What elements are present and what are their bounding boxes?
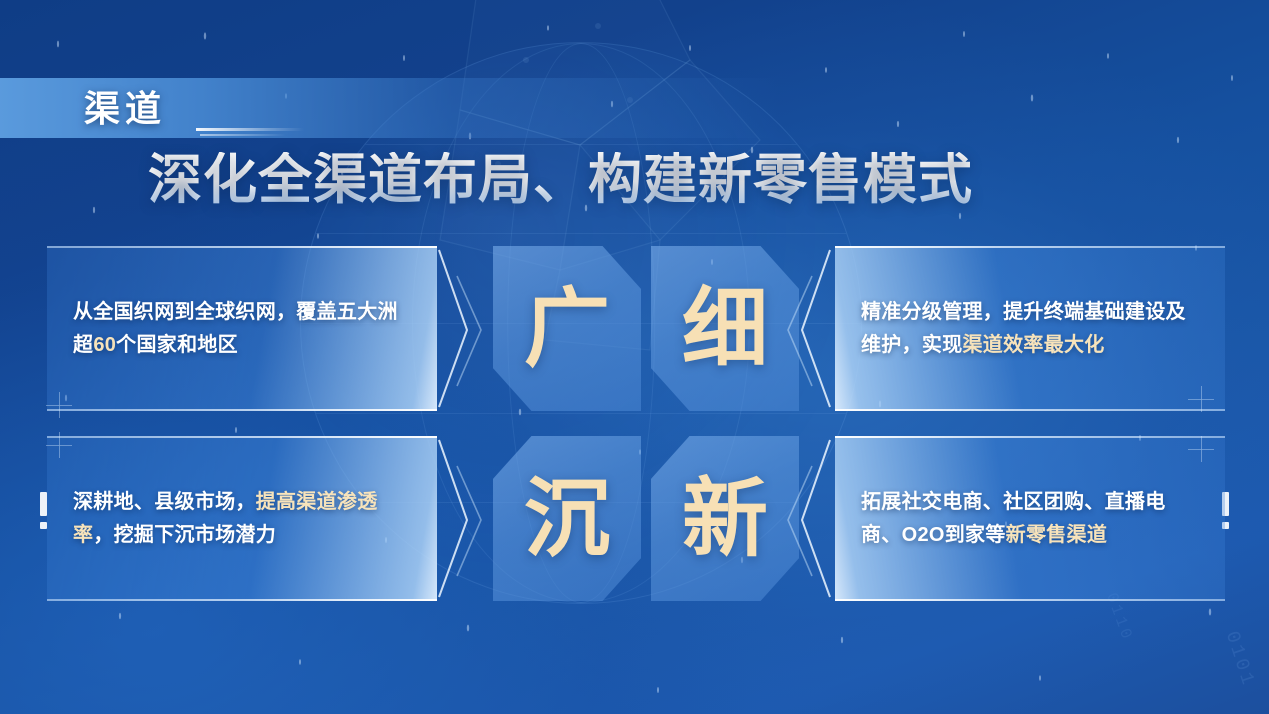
slide-canvas: 0101 0110 渠道 深化全渠道布局、构建新零售模式 从全国织网到全球织网，… [0,0,1269,714]
highlighted-text: 60 [93,334,116,356]
card-text: 精准分级管理，提升终端基础建设及维护，实现渠道效率最大化 [861,296,1199,361]
crosshair-marker [46,432,72,458]
card-text: 拓展社交电商、社区团购、直播电商、O2O到家等新零售渠道 [861,486,1199,551]
card-text-panel: 拓展社交电商、社区团购、直播电商、O2O到家等新零售渠道 [835,436,1225,601]
card-text: 从全国织网到全球织网，覆盖五大洲超60个国家和地区 [73,296,411,361]
card-badge: 广 [493,246,641,411]
card-text-panel: 深耕地、县级市场，提高渠道渗透率，挖掘下沉市场潜力 [47,436,437,601]
card-text-panel: 从全国织网到全球织网，覆盖五大洲超60个国家和地区 [47,246,437,411]
card-text: 深耕地、县级市场，提高渠道渗透率，挖掘下沉市场潜力 [73,486,411,551]
badge-character: 沉 [524,476,610,562]
plain-text: 个国家和地区 [116,334,238,356]
panel-top-rim [835,436,1225,438]
badge-character: 广 [524,286,610,372]
chevron-connector-right [770,436,832,601]
plain-text: ，挖掘下沉市场潜力 [93,524,276,546]
panel-bottom-rim [47,599,437,601]
plain-text: 深耕地、县级市场， [73,491,256,513]
panel-top-rim [47,246,437,248]
highlighted-text: 新零售渠道 [1006,524,1108,546]
highlighted-text: 渠道效率最大化 [963,334,1105,356]
binary-watermark: 0101 [1221,628,1260,690]
crosshair-marker [46,392,72,418]
panel-bottom-rim [47,409,437,411]
panel-top-rim [47,436,437,438]
crosshair-marker [1188,386,1214,412]
panel-bottom-rim [835,409,1225,411]
card-badge: 沉 [493,436,641,601]
page-title: 深化全渠道布局、构建新零售模式 [148,152,973,209]
chevron-connector-right [770,246,832,411]
badge-character: 细 [682,286,768,372]
card-text-panel: 精准分级管理，提升终端基础建设及维护，实现渠道效率最大化 [835,246,1225,411]
badge-character: 新 [682,476,768,562]
panel-top-rim [835,246,1225,248]
chevron-connector-left [437,436,499,601]
section-kicker: 渠道 [84,80,166,132]
kicker-underline-secondary [200,134,286,136]
content-grid: 从全国织网到全球织网，覆盖五大洲超60个国家和地区 广 细 [0,246,1269,610]
card-row-top: 从全国织网到全球织网，覆盖五大洲超60个国家和地区 广 细 [0,246,1269,411]
card-row-bottom: 深耕地、县级市场，提高渠道渗透率，挖掘下沉市场潜力 沉 新 [0,436,1269,601]
kicker-underline [196,128,304,131]
chevron-connector-left [437,246,499,411]
crosshair-marker [1188,436,1214,462]
panel-bottom-rim [835,599,1225,601]
